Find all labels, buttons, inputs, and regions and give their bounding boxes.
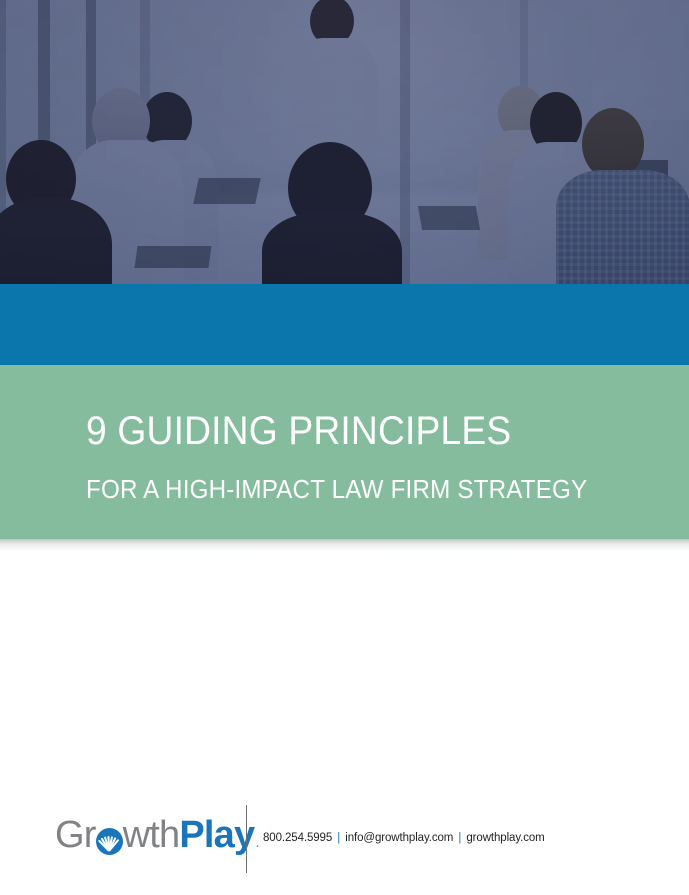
logo-text-play: Play: [179, 815, 254, 855]
growthplay-logo[interactable]: Gr wth Play .: [55, 815, 260, 859]
hero-image: [0, 0, 689, 284]
band-drop-shadow: [0, 539, 689, 551]
document-cover-page: 9 GUIDING PRINCIPLES FOR A HIGH-IMPACT L…: [0, 0, 689, 895]
page-subtitle: FOR A HIGH-IMPACT LAW FIRM STRATEGY: [86, 472, 607, 506]
contact-website[interactable]: growthplay.com: [466, 832, 544, 844]
hero-tint-overlay: [0, 0, 689, 284]
sunburst-circle-icon: [96, 828, 123, 855]
page-title: 9 GUIDING PRINCIPLES: [86, 404, 607, 458]
footer-divider: [246, 805, 247, 873]
logo-registered-mark: .: [255, 834, 259, 851]
footer: Gr wth Play . 800.254.5995 | info@growth…: [0, 795, 689, 895]
contact-separator-2: |: [456, 832, 463, 844]
logo-text-wth: wth: [123, 815, 180, 855]
title-block: 9 GUIDING PRINCIPLES FOR A HIGH-IMPACT L…: [86, 404, 646, 506]
contact-separator-1: |: [335, 832, 342, 844]
blue-accent-band: [0, 284, 689, 365]
contact-phone[interactable]: 800.254.5995: [263, 832, 332, 844]
logo-text-gr: Gr: [55, 815, 96, 855]
footer-contact-line: 800.254.5995 | info@growthplay.com | gro…: [263, 830, 545, 846]
contact-email[interactable]: info@growthplay.com: [345, 832, 453, 844]
